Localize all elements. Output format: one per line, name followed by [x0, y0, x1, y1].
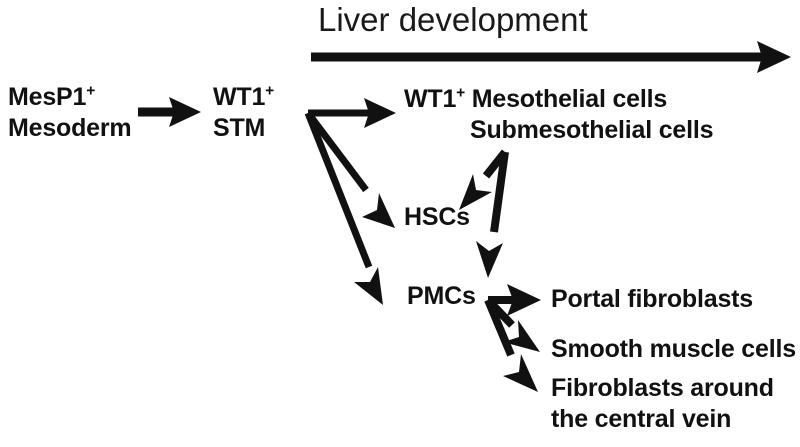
timeline-arrow-icon — [311, 41, 791, 73]
node-label-mesothelial-cells: WT1+ Mesothelial cells — [404, 84, 667, 115]
node-label-portal-fibroblasts: Portal fibroblasts — [551, 284, 753, 315]
node-label-fibroblasts-around: Fibroblasts around — [551, 373, 774, 404]
superscript-plus-mesothelial: + — [456, 85, 465, 102]
node-label-submesothelial-cells: Submesothelial cells — [470, 115, 713, 146]
arrow-pmcs-to-central-vein-fibroblasts-icon — [488, 300, 538, 392]
node-label-pmcs: PMCs — [407, 281, 476, 312]
liver-development-diagram: Liver development MesP1+ Mesoderm WT1+ S… — [0, 0, 800, 447]
node-label-mesp1-text: MesP1 — [8, 83, 86, 111]
node-label-wt1: WT1+ — [213, 82, 274, 113]
arrow-pmcs-to-smooth-muscle-icon — [488, 300, 540, 352]
node-label-mesoderm: Mesoderm — [8, 113, 131, 144]
node-label-mesothelial-prefix: WT1 — [404, 85, 456, 113]
arrow-stm-to-hscs-icon — [308, 113, 395, 228]
diagram-title: Liver development — [318, 2, 588, 38]
node-label-smooth-muscle-cells: Smooth muscle cells — [551, 334, 796, 365]
node-label-wt1-text: WT1 — [213, 83, 265, 111]
superscript-plus-wt1: + — [265, 83, 274, 100]
node-label-mesothelial-rest: Mesothelial cells — [465, 85, 667, 113]
node-label-stm: STM — [213, 113, 265, 144]
node-label-central-vein: the central vein — [551, 404, 731, 435]
arrow-stm-to-pmcs-icon — [308, 113, 383, 305]
superscript-plus-mesp1: + — [86, 83, 95, 100]
arrow-submesothelial-to-pmcs-icon — [476, 152, 505, 278]
node-label-mesp1: MesP1+ — [8, 82, 95, 113]
arrow-stm-to-mesothelial-icon — [308, 98, 396, 128]
arrow-pmcs-to-portal-fibroblasts-icon — [488, 284, 541, 316]
arrow-mesoderm-to-stm-icon — [138, 97, 201, 127]
node-label-hscs: HSCs — [404, 202, 470, 233]
